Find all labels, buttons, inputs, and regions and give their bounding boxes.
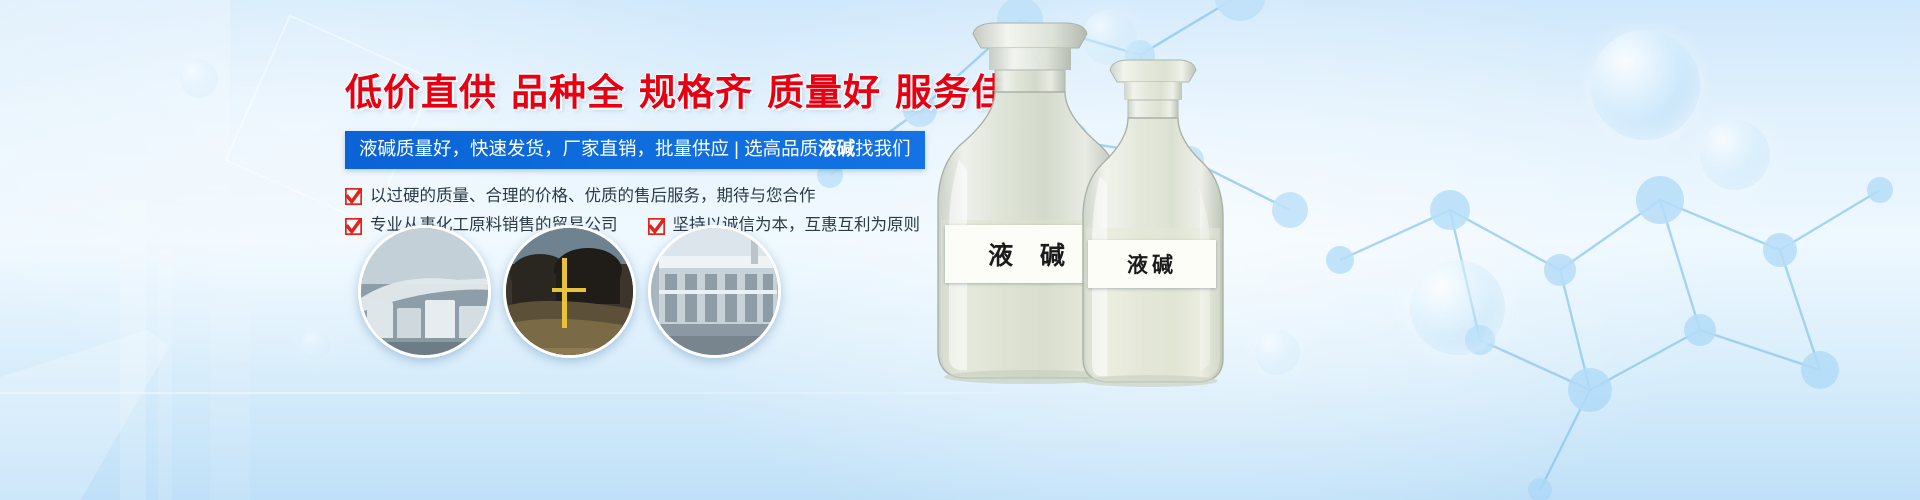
bubble-decoration	[180, 60, 218, 98]
horizontal-rule-decoration	[0, 392, 520, 394]
bottle-label: 液碱	[1088, 240, 1216, 288]
vertical-bar-decoration	[210, 300, 250, 500]
vertical-bar-decoration	[158, 250, 172, 500]
left-gradient-wedge	[0, 0, 230, 500]
subtitle-suffix: 找我们	[855, 138, 911, 159]
subtitle-highlight: 液碱	[818, 138, 855, 159]
bottle-label-text: 液碱	[1127, 249, 1177, 279]
factory-building-photo	[648, 225, 781, 358]
list-item: 以过硬的质量、合理的价格、优质的售后服务，期待与您合作	[345, 187, 816, 207]
headline-part-2: 品种全	[511, 71, 625, 114]
dark-tanks-photo	[503, 225, 636, 358]
bubble-decoration	[1700, 120, 1770, 190]
subtitle-prefix: 液碱质量好，快速发货，厂家直销，批量供应 | 选高品质	[359, 138, 818, 159]
subtitle-bar: 液碱质量好，快速发货，厂家直销，批量供应 | 选高品质液碱找我们	[345, 131, 925, 169]
bubble-decoration	[300, 330, 330, 360]
bubble-decoration	[1255, 330, 1300, 375]
molecule-icon	[1260, 140, 1900, 500]
check-icon	[345, 188, 362, 205]
bottle-label-text: 液 碱	[988, 236, 1074, 272]
diagonal-shape-decoration	[0, 330, 320, 500]
headline-part-3: 规格齐	[639, 71, 753, 114]
storage-tank-farm-photo	[358, 225, 491, 358]
headline-part-4: 质量好	[767, 71, 881, 114]
bullet-text: 以过硬的质量、合理的价格、优质的售后服务，期待与您合作	[370, 187, 816, 207]
bubble-decoration	[1410, 260, 1505, 355]
headline-part-1: 低价直供	[345, 71, 497, 114]
photo-strip	[358, 225, 781, 358]
bubble-decoration	[1590, 30, 1700, 140]
promo-banner: 低价直供品种全规格齐质量好服务佳 液碱质量好，快速发货，厂家直销，批量供应 | …	[0, 0, 1920, 500]
small-reagent-bottle: 液碱	[1062, 58, 1237, 393]
horizontal-rule-decoration	[480, 392, 1000, 394]
vertical-bar-decoration	[120, 200, 146, 500]
